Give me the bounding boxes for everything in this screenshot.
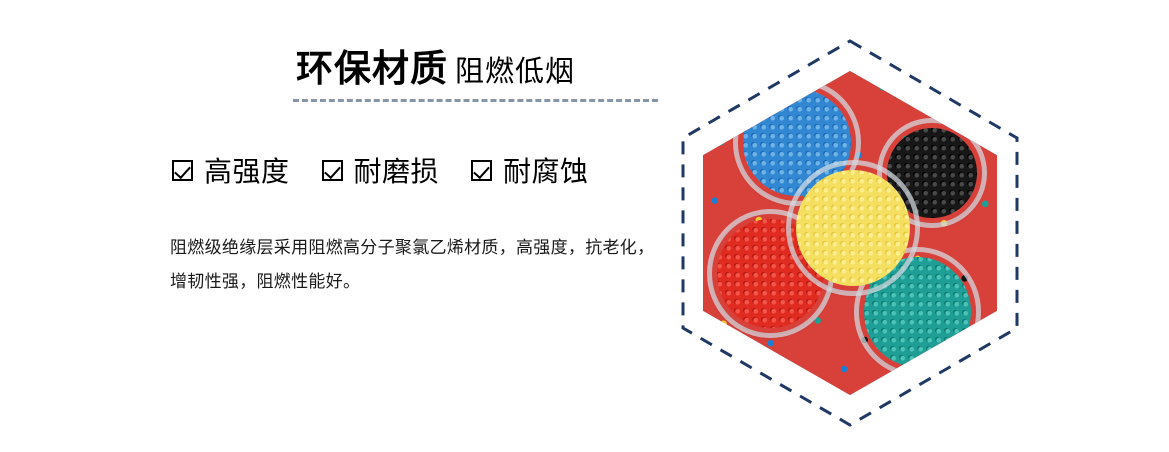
- feature-list: 高强度 耐磨损 耐腐蚀: [172, 150, 589, 190]
- yellow-pellet-bowl: [791, 165, 914, 291]
- feature-item-corrosion-resistance: 耐腐蚀: [471, 150, 589, 190]
- page-title: 环保材质阻燃低烟: [296, 50, 656, 87]
- yellow-pellets: [796, 170, 909, 286]
- title-dashed-divider: [293, 99, 658, 102]
- checkbox-checked-icon: [471, 160, 492, 181]
- feature-item-strength: 高强度: [172, 150, 290, 190]
- feature-label-strength: 高强度: [204, 150, 290, 190]
- title-block: 环保材质阻燃低烟: [296, 50, 656, 87]
- feature-label-corrosion-resistance: 耐腐蚀: [503, 150, 589, 190]
- checkbox-checked-icon: [322, 160, 343, 181]
- feature-item-wear-resistance: 耐磨损: [322, 150, 440, 190]
- text-column: 环保材质阻燃低烟 高强度 耐磨损 耐腐蚀 阻燃级绝缘层采用阻燃高分子聚氯乙烯材质…: [0, 0, 690, 452]
- description-paragraph: 阻燃级绝缘层采用阻燃高分子聚氯乙烯材质，高强度，抗老化，增韧性强，阻燃性能好。: [170, 231, 670, 299]
- title-sub-text: 阻燃低烟: [455, 56, 575, 88]
- product-feature-banner: 环保材质阻燃低烟 高强度 耐磨损 耐腐蚀 阻燃级绝缘层采用阻燃高分子聚氯乙烯材质…: [0, 0, 1169, 452]
- hexagon-media-block: [680, 38, 1020, 428]
- title-main-text: 环保材质: [296, 48, 448, 89]
- checkbox-checked-icon: [172, 160, 193, 181]
- feature-label-wear-resistance: 耐磨损: [354, 150, 440, 190]
